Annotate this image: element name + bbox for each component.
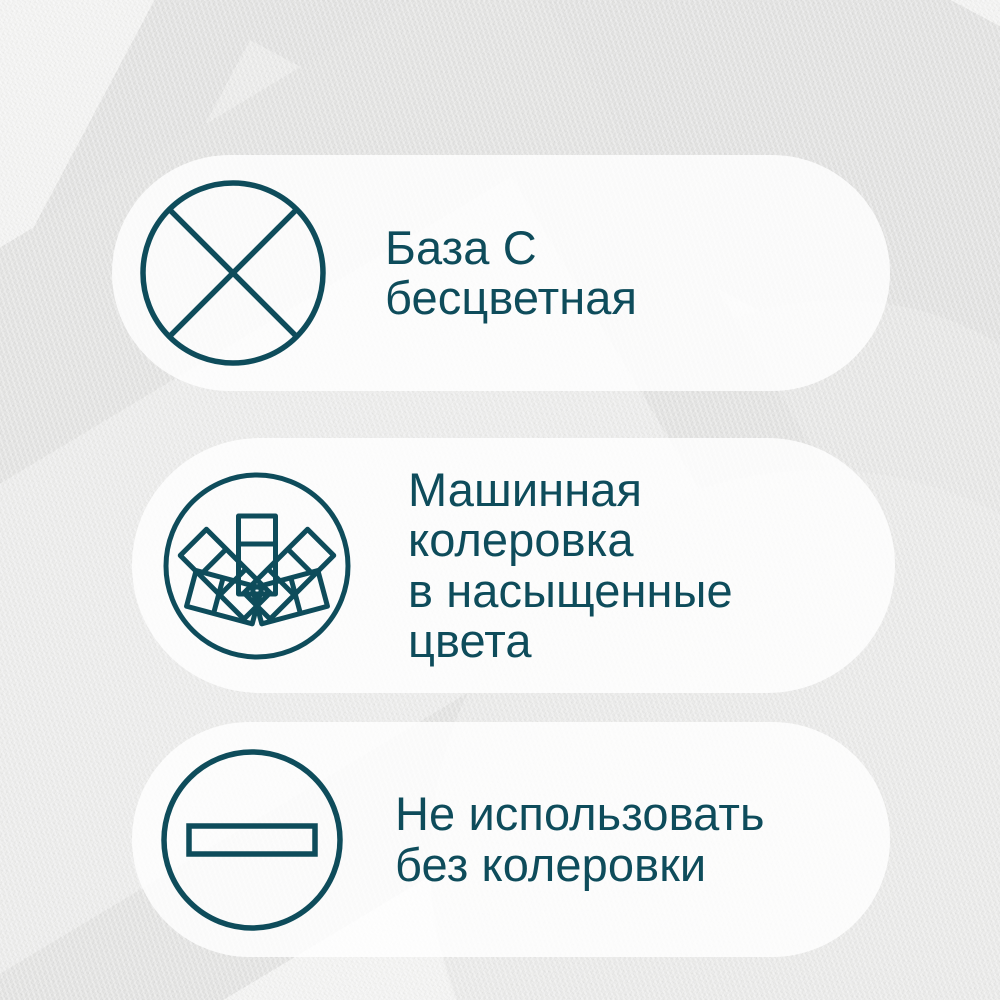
poster-canvas: База С бесцветная: [0, 0, 1000, 1000]
circle-cross-icon: [138, 178, 328, 368]
feature-card-base-c: База С бесцветная: [112, 155, 890, 391]
feature-card-machine-tinting: Машинная колеровка в насыщенные цвета: [132, 438, 895, 693]
color-fan-deck-icon: [159, 468, 355, 664]
feature-card-base-c-label: База С бесцветная: [385, 223, 637, 324]
feature-card-do-not-use: Не использовать без колеровки: [132, 722, 890, 957]
feature-card-machine-tinting-label: Машинная колеровка в насыщенные цвета: [408, 465, 733, 666]
circle-minus-icon: [159, 747, 345, 933]
feature-card-do-not-use-label: Не использовать без колеровки: [395, 789, 765, 890]
